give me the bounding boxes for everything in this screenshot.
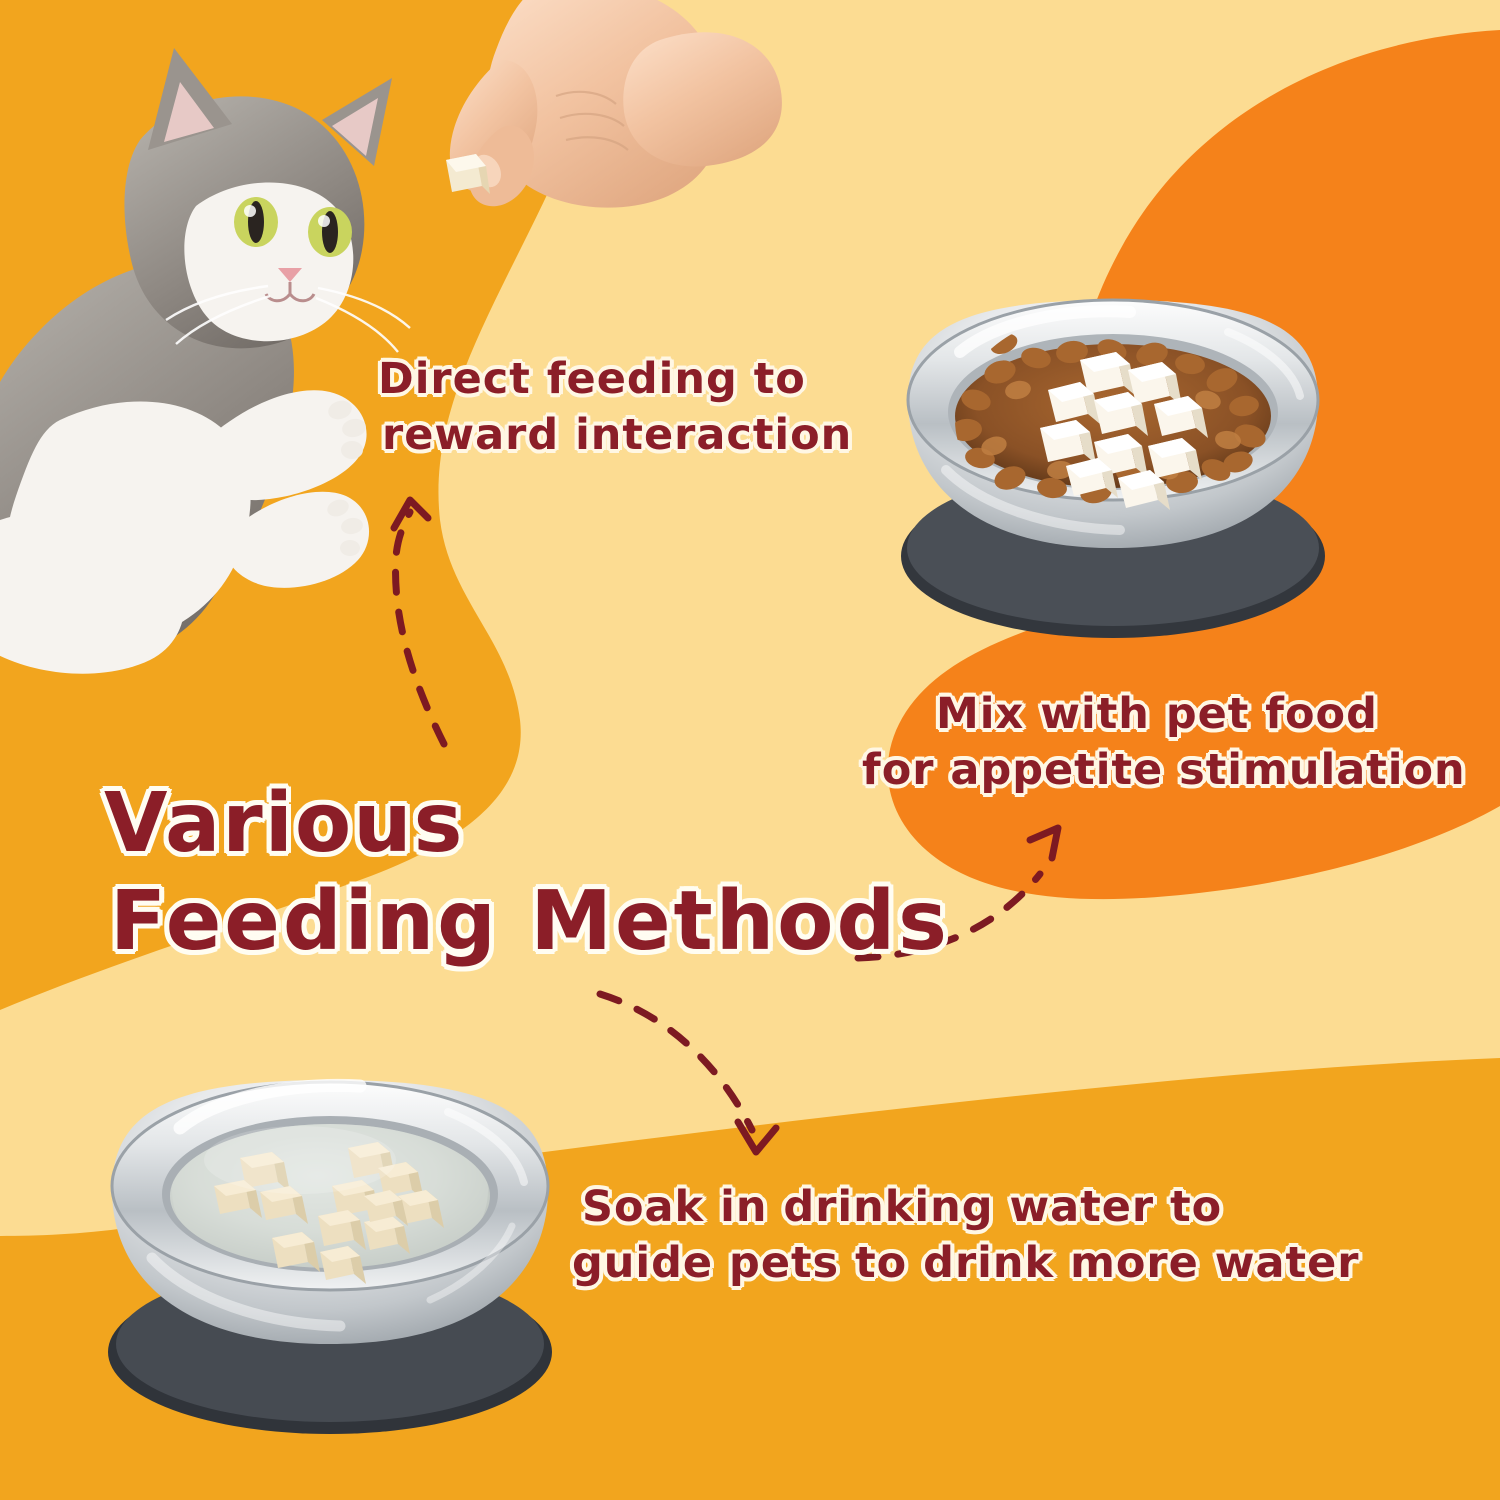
page-title: Various Feeding Methods xyxy=(104,775,950,972)
caption-soak-in-water: Soak in drinking water to guide pets to … xyxy=(572,1180,1359,1292)
arrowhead-mix-with-food xyxy=(1030,828,1058,858)
arrow-to-direct-feeding xyxy=(396,512,444,744)
infographic-canvas: Direct feeding to reward interaction Mix… xyxy=(0,0,1500,1500)
caption-soak-line2: guide pets to drink more water xyxy=(572,1236,1359,1292)
caption-direct-line1: Direct feeding to xyxy=(378,352,852,408)
headline-line2: Feeding Methods xyxy=(110,873,950,971)
caption-mix-with-pet-food: Mix with pet food for appetite stimulati… xyxy=(862,687,1466,799)
arrow-to-soak-in-water xyxy=(600,994,752,1130)
arrowhead-soak-in-water xyxy=(738,1122,776,1152)
caption-soak-line1: Soak in drinking water to xyxy=(582,1180,1359,1236)
caption-direct-feeding: Direct feeding to reward interaction xyxy=(378,352,852,464)
caption-mix-line1: Mix with pet food xyxy=(936,687,1466,743)
caption-direct-line2: reward interaction xyxy=(382,408,852,464)
headline-line1: Various xyxy=(104,775,950,873)
caption-mix-line2: for appetite stimulation xyxy=(862,743,1466,799)
